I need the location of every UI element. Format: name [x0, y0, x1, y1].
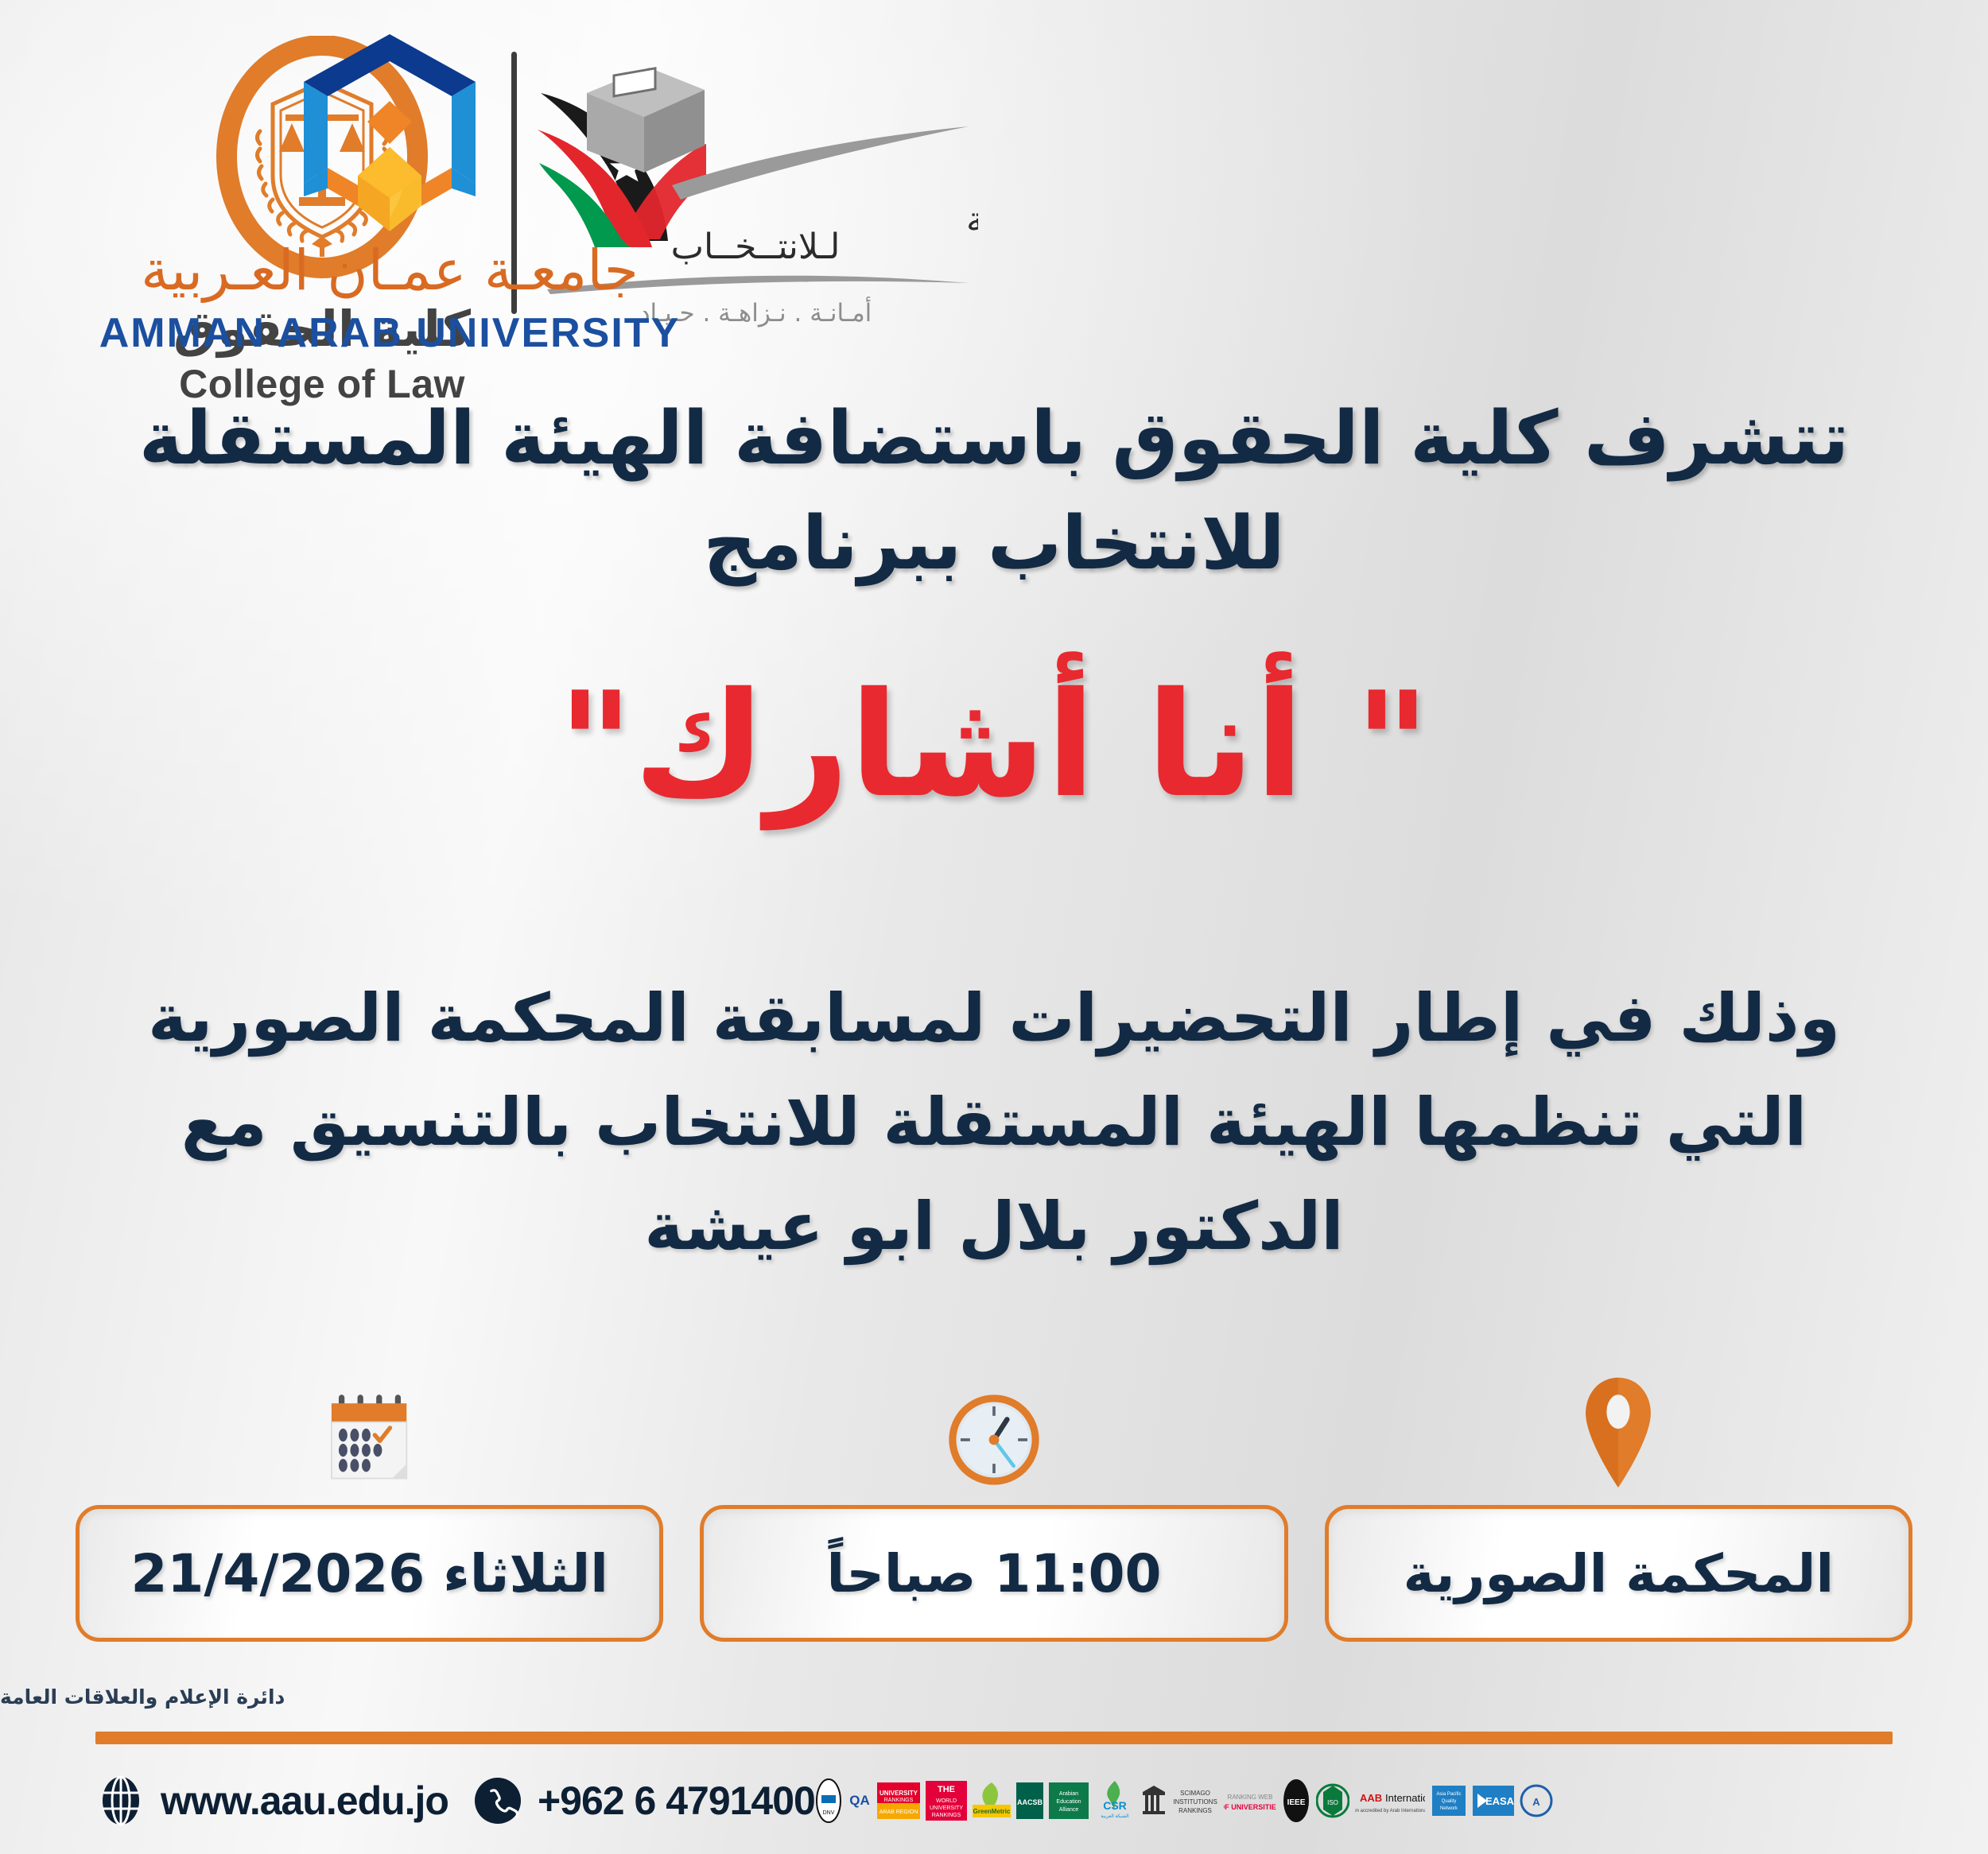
svg-text:GreenMetric: GreenMetric	[973, 1808, 1011, 1815]
svg-text:الشبكة العربية: الشبكة العربية	[1101, 1813, 1129, 1819]
accreditation-badge: ISO	[1316, 1777, 1349, 1825]
accreditation-badge: IEEE	[1282, 1777, 1310, 1825]
globe-icon	[95, 1775, 146, 1826]
subtext-line-1: وذلك في إطار التحضيرات لمسابقة المحكمة ا…	[111, 966, 1877, 1070]
svg-text:DNV: DNV	[822, 1810, 834, 1816]
program-title: " أنا أشارك"	[0, 660, 1988, 831]
location-pin-icon	[1578, 1371, 1658, 1491]
contact-info: www.aau.edu.jo +962 6 4791400	[95, 1775, 815, 1826]
calendar-icon	[323, 1371, 417, 1491]
website-group[interactable]: www.aau.edu.jo	[95, 1775, 448, 1826]
time-box: 11:00 صباحاً	[700, 1505, 1287, 1642]
clock-icon	[943, 1371, 1045, 1491]
svg-text:Quality: Quality	[1442, 1799, 1457, 1804]
time-text: 11:00 صباحاً	[813, 1543, 1176, 1604]
poster-footer: www.aau.edu.jo +962 6 4791400 DNV QA UNI…	[95, 1761, 1893, 1840]
website-text: www.aau.edu.jo	[161, 1778, 448, 1824]
date-box: الثلاثاء 21/4/2026	[76, 1505, 663, 1642]
university-name-ar: جامعـة عمـان العـربية	[72, 238, 708, 303]
university-name-en: AMMAN ARAB UNIVERSITY	[72, 309, 708, 357]
phone-icon	[472, 1775, 523, 1826]
accreditation-badge: GreenMetric	[973, 1777, 1011, 1825]
svg-text:Asia Pacific: Asia Pacific	[1436, 1792, 1461, 1797]
phone-text: +962 6 4791400	[538, 1778, 815, 1824]
svg-text:QA: QA	[849, 1793, 870, 1808]
aau-hexagon-emblem	[278, 28, 501, 235]
amman-arab-university-logo-block: جامعـة عمـان العـربية AMMAN ARAB UNIVERS…	[72, 28, 708, 357]
accreditation-badge: UNIVERSITYRANKINGSARAB REGION	[877, 1777, 920, 1825]
svg-text:WORLD: WORLD	[936, 1798, 957, 1804]
headline-line-2: للانتخاب ببرنامج	[87, 491, 1901, 595]
phone-group[interactable]: +962 6 4791400	[472, 1775, 815, 1826]
department-credit: دائرة الإعلام والعلاقات العامة	[0, 1685, 1893, 1709]
svg-text:RANKING WEB: RANKING WEB	[1227, 1794, 1272, 1801]
date-text: الثلاثاء 21/4/2026	[116, 1543, 622, 1604]
svg-text:AACSB: AACSB	[1017, 1798, 1043, 1806]
accreditation-badge: RANKING WEBOF UNIVERSITIES	[1224, 1777, 1276, 1825]
accreditation-badge: SCIMAGOINSTITUTIONSRANKINGS	[1172, 1777, 1218, 1825]
location-box: المحكمة الصورية	[1325, 1505, 1912, 1642]
svg-text:A: A	[1532, 1796, 1540, 1808]
footer-divider-bar	[95, 1732, 1893, 1744]
svg-text:Education: Education	[1056, 1799, 1081, 1805]
svg-text:SCIMAGO: SCIMAGO	[1180, 1790, 1210, 1797]
accreditation-badge: A	[1520, 1777, 1553, 1825]
svg-text:INSTITUTIONS: INSTITUTIONS	[1173, 1798, 1217, 1806]
accreditation-badge: QA	[848, 1777, 872, 1825]
poster-header: كلية الحقوق College of Law	[0, 0, 1988, 358]
info-card-location: المحكمة الصورية	[1325, 1371, 1912, 1674]
headline-line-1: تتشرف كلية الحقوق باستضافة الهيئة المستق…	[87, 386, 1901, 491]
svg-text:UNIVERSITY: UNIVERSITY	[879, 1790, 918, 1797]
svg-text:ARAB REGION: ARAB REGION	[879, 1809, 918, 1815]
svg-text:RANKINGS: RANKINGS	[884, 1798, 914, 1803]
accreditation-badge: CSRالشبكة العربية	[1094, 1777, 1136, 1825]
svg-text:UNIVERSITY: UNIVERSITY	[930, 1806, 963, 1811]
svg-text:THE: THE	[938, 1785, 955, 1794]
svg-text:Alliance: Alliance	[1059, 1807, 1079, 1813]
accreditation-badge: AABInternationalInstitution accredited b…	[1355, 1777, 1425, 1825]
accreditation-badge: ArabianEducationAlliance	[1049, 1777, 1089, 1825]
poster-root: كلية الحقوق College of Law	[0, 0, 1988, 1854]
accreditation-badge: DNV	[815, 1777, 842, 1825]
page-subtext: وذلك في إطار التحضيرات لمسابقة المحكمة ا…	[111, 966, 1877, 1278]
svg-text:International: International	[1385, 1792, 1425, 1804]
svg-text:EASA: EASA	[1485, 1795, 1514, 1807]
accreditation-badge: AACSB	[1016, 1777, 1043, 1825]
iec-name-line1: الهيئــة المســتقلـة	[966, 200, 978, 240]
location-text: المحكمة الصورية	[1389, 1543, 1848, 1604]
subtext-line-3: الدكتور بلال ابو عيشة	[111, 1174, 1877, 1278]
svg-text:RANKINGS: RANKINGS	[932, 1813, 961, 1818]
info-card-time: 11:00 صباحاً	[700, 1371, 1287, 1674]
svg-text:OF UNIVERSITIES: OF UNIVERSITIES	[1224, 1803, 1276, 1811]
accreditation-logos: DNV QA UNIVERSITYRANKINGSARAB REGION THE…	[815, 1777, 1553, 1825]
accreditation-badge: THEWORLDUNIVERSITYRANKINGS	[926, 1777, 967, 1825]
svg-text:Institution accredited by Arab: Institution accredited by Arab Internati…	[1355, 1809, 1425, 1813]
svg-text:RANKINGS: RANKINGS	[1178, 1807, 1212, 1814]
subtext-line-2: التي تنظمها الهيئة المستقلة للانتخاب بال…	[111, 1070, 1877, 1174]
accreditation-badge	[1141, 1777, 1167, 1825]
svg-text:AAB: AAB	[1360, 1792, 1382, 1804]
svg-text:Arabian: Arabian	[1059, 1791, 1078, 1797]
page-headline: تتشرف كلية الحقوق باستضافة الهيئة المستق…	[87, 386, 1901, 595]
info-card-date: الثلاثاء 21/4/2026	[76, 1371, 663, 1674]
svg-text:ISO: ISO	[1327, 1799, 1338, 1806]
event-info-cards: الثلاثاء 21/4/2026 1	[76, 1371, 1912, 1674]
accreditation-badge: EASA	[1473, 1777, 1514, 1825]
accreditation-badge: Asia PacificQualityNetwork	[1431, 1777, 1467, 1825]
svg-text:IEEE: IEEE	[1287, 1798, 1305, 1807]
svg-text:Network: Network	[1440, 1806, 1458, 1811]
svg-text:CSR: CSR	[1103, 1799, 1127, 1812]
